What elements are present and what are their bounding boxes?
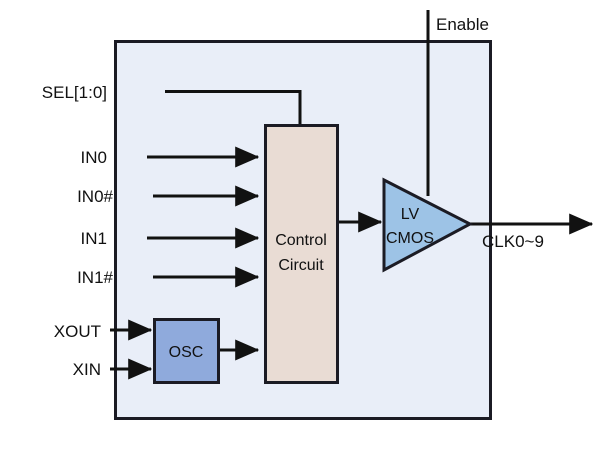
osc-label: OSC — [169, 344, 204, 361]
port-label-in1: IN1 — [81, 229, 107, 248]
port-label-in0-bar: IN0# — [77, 187, 113, 206]
clk-output-label: CLK0~9 — [482, 232, 544, 251]
port-label-in1-bar: IN1# — [77, 268, 113, 287]
amplifier-label-line2: CMOS — [386, 230, 434, 247]
port-label-sel: SEL[1:0] — [42, 83, 107, 102]
port-label-xin: XIN — [73, 360, 101, 379]
block-diagram-canvas: SEL[1:0] IN0 IN0# IN1 IN1# XOUT XIN OSC … — [0, 0, 602, 450]
port-label-in0: IN0 — [81, 148, 107, 167]
control-circuit-label-line1: Control — [275, 232, 327, 249]
control-circuit-block[interactable] — [266, 126, 338, 383]
block-diagram: SEL[1:0] IN0 IN0# IN1 IN1# XOUT XIN OSC … — [0, 0, 602, 450]
port-label-xout: XOUT — [54, 322, 101, 341]
amplifier-label-line1: LV — [401, 206, 420, 223]
control-circuit-label-line2: Circuit — [278, 257, 324, 274]
enable-label: Enable — [436, 15, 489, 34]
